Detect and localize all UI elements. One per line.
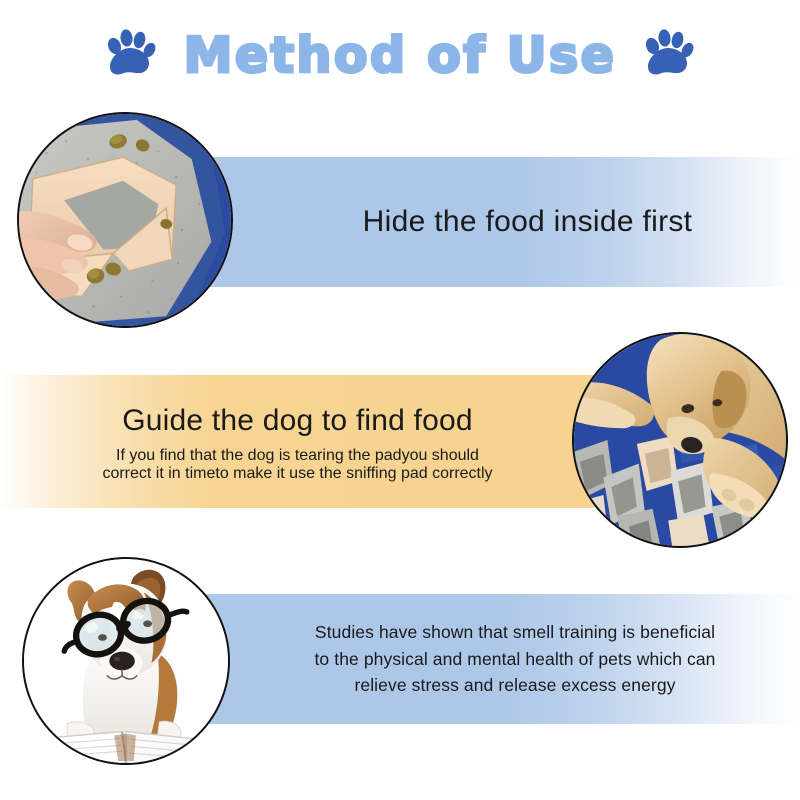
method-of-use-infographic: Method of Use Hide the food inside first [0, 0, 800, 800]
page-title-row: Method of Use [0, 16, 800, 94]
step-3-subtext-line-2: to the physical and mental health of pet… [314, 646, 715, 673]
step-2-band: Guide the dog to find food If you find t… [0, 375, 595, 508]
golden-retriever-sniffing-photo [572, 332, 788, 548]
step-3-subtext: Studies have shown that smell training i… [245, 594, 785, 724]
step-2-heading: Guide the dog to find food [122, 404, 472, 438]
step-2-subtext-line-2: correct it in timeto make it use the sni… [102, 465, 492, 483]
paw-print-icon [104, 29, 158, 81]
step-3-subtext-line-3: relieve stress and release excess energy [314, 672, 715, 699]
step-1-heading: Hide the food inside first [255, 157, 800, 287]
step-2-subtext-line-1: If you find that the dog is tearing the … [102, 447, 492, 465]
step-2-subtext: If you find that the dog is tearing the … [102, 447, 492, 483]
paw-print-icon [642, 29, 696, 81]
step-2-text-block: Guide the dog to find food If you find t… [20, 375, 575, 508]
page-title: Method of Use [184, 31, 617, 80]
step-3-band: Studies have shown that smell training i… [200, 594, 800, 724]
step-3-subtext-line-1: Studies have shown that smell training i… [314, 619, 715, 646]
dog-with-glasses-reading-photo [22, 557, 230, 765]
snuffle-mat-hide-food-photo [17, 112, 233, 328]
step-1-band: Hide the food inside first [200, 157, 800, 287]
